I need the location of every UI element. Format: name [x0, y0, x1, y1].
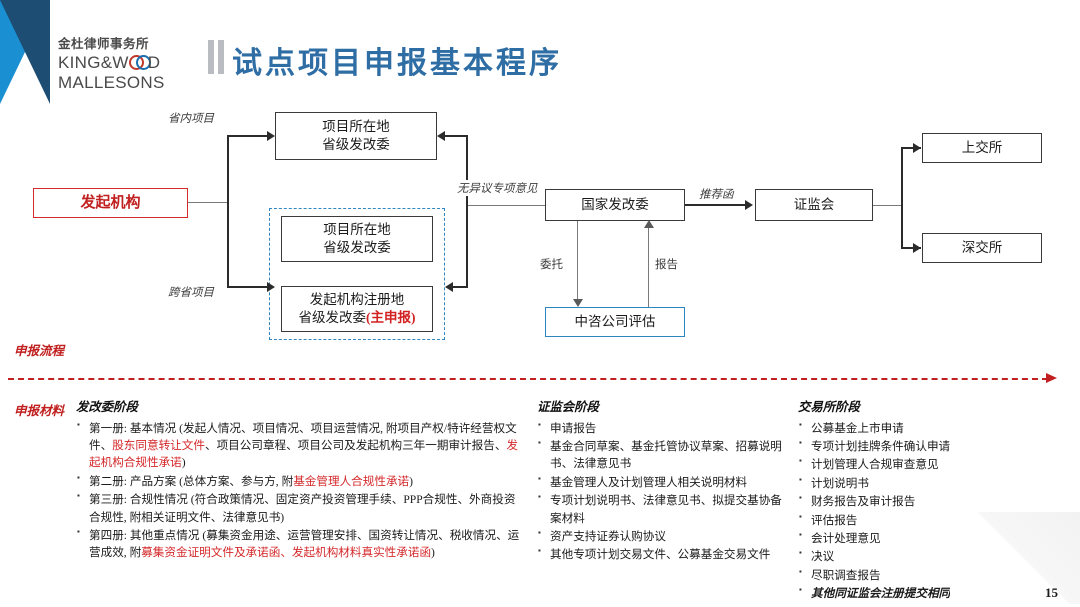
- node-project-province-top-line2: 省级发改委: [322, 136, 390, 154]
- label-no-objection: 无异议专项意见: [455, 180, 540, 196]
- label-cross-province: 跨省项目: [168, 284, 214, 300]
- logo-english-line2: MALLESONS: [58, 74, 178, 92]
- connector-noobjection-top-stub: [445, 135, 468, 137]
- list-item: 第一册: 基本情况 (发起人情况、项目情况、项目运营情况, 附项目产权/特许经营…: [76, 420, 526, 472]
- list-item: 公募基金上市申请: [798, 420, 1068, 437]
- materials-column-exchange-head: 交易所阶段: [798, 398, 1068, 417]
- connector-exchange-vertical: [901, 148, 903, 248]
- section-divider-arrow-icon: [1046, 373, 1057, 383]
- list-item: 第二册: 产品方案 (总体方案、参与方, 附基金管理人合规性承诺): [76, 473, 526, 490]
- connector-initiator-out: [188, 202, 228, 203]
- logo-english-tail: D: [148, 53, 161, 72]
- list-item: 计划说明书: [798, 475, 1068, 492]
- list-item: 第四册: 其他重点情况 (募集资金用途、运营管理安排、国资转让情况、税收情况、运…: [76, 527, 526, 562]
- list-item: 计划管理人合规审查意见: [798, 456, 1068, 473]
- node-csrc: 证监会: [755, 189, 873, 221]
- node-project-province-top: 项目所在地 省级发改委: [275, 112, 437, 160]
- list-item: 基金管理人及计划管理人相关说明材料: [537, 474, 787, 491]
- title-accent-bars: [208, 40, 224, 74]
- arrow-ndrc-to-csrc: [745, 200, 753, 210]
- arrow-to-szse: [913, 243, 921, 253]
- list-item: 基金合同草案、基金托管协议草案、招募说明书、法律意见书: [537, 438, 787, 473]
- list-item: 其他同证监会注册提交相同文件: [798, 585, 1068, 602]
- node-project-province-mid: 项目所在地 省级发改委: [281, 216, 433, 262]
- connector-to-group: [227, 286, 269, 288]
- label-entrust: 委托: [540, 256, 563, 272]
- firm-logo: 金杜律师事务所 KING&WD MALLESONS: [58, 38, 178, 91]
- slide: 金杜律师事务所 KING&WD MALLESONS 试点项目申报基本程序 发起机…: [0, 0, 1080, 607]
- materials-column-ndrc-list: 第一册: 基本情况 (发起人情况、项目情况、项目运营情况, 附项目产权/特许经营…: [76, 420, 526, 562]
- label-report: 报告: [655, 256, 678, 272]
- node-registration-province: 发起机构注册地 省级发改委(主申报): [281, 286, 433, 332]
- title-bar-2: [218, 40, 224, 74]
- connector-noobjection-vertical: [466, 135, 468, 288]
- list-item: 专项计划挂牌条件确认申请: [798, 438, 1068, 455]
- arrow-to-top-province: [267, 131, 275, 141]
- arrow-entrust: [573, 299, 583, 307]
- corner-decoration: [0, 0, 50, 104]
- node-szse-label: 深交所: [962, 239, 1003, 257]
- arrow-into-top-province: [437, 131, 445, 141]
- list-item: 资产支持证券认购协议: [537, 528, 787, 545]
- node-szse: 深交所: [922, 233, 1042, 263]
- node-project-province-mid-line2: 省级发改委: [323, 239, 391, 257]
- logo-english-kingwood: KING&W: [58, 53, 129, 72]
- node-csrc-label: 证监会: [794, 196, 835, 214]
- node-sse: 上交所: [922, 133, 1042, 163]
- highlighted-text: 基金管理人合规性承诺: [293, 475, 409, 488]
- list-item: 评估报告: [798, 512, 1068, 529]
- plain-text: 、项目公司章程、项目公司及发起机构三年一期审计报告、: [205, 439, 506, 452]
- page-number: 15: [1045, 585, 1058, 601]
- plain-text: 第三册: 合规性情况 (符合政策情况、固定资产投资管理手续、PPP合规性、外商投…: [89, 493, 515, 523]
- arrow-to-sse: [913, 143, 921, 153]
- node-registration-province-highlight: (主申报): [366, 310, 416, 325]
- connector-entrust: [577, 221, 578, 301]
- label-in-province: 省内项目: [168, 110, 214, 126]
- arrow-to-group: [267, 282, 275, 292]
- node-initiator: 发起机构: [33, 188, 188, 218]
- materials-column-exchange: 交易所阶段 公募基金上市申请 专项计划挂牌条件确认申请 计划管理人合规审查意见 …: [798, 398, 1068, 604]
- section-divider: [8, 378, 1048, 380]
- node-registration-province-line1: 发起机构注册地: [310, 291, 405, 309]
- node-registration-province-line2: 省级发改委(主申报): [299, 309, 416, 327]
- node-consulting-evaluation: 中咨公司评估: [545, 307, 685, 337]
- list-item: 财务报告及审计报告: [798, 493, 1068, 510]
- plain-text: 第二册: 产品方案 (总体方案、参与方, 附: [89, 475, 293, 488]
- list-item: 会计处理意见: [798, 530, 1068, 547]
- plain-text: ): [409, 475, 413, 488]
- materials-columns: 发改委阶段 第一册: 基本情况 (发起人情况、项目情况、项目运营情况, 附项目产…: [0, 398, 1080, 598]
- connector-noobjection-bottom-stub: [453, 286, 468, 288]
- node-project-province-mid-line1: 项目所在地: [323, 221, 391, 239]
- materials-column-exchange-list: 公募基金上市申请 专项计划挂牌条件确认申请 计划管理人合规审查意见 计划说明书 …: [798, 420, 1068, 603]
- corner-triangle-dark: [0, 0, 50, 104]
- node-sse-label: 上交所: [962, 139, 1003, 157]
- materials-column-csrc-list: 申请报告 基金合同草案、基金托管协议草案、招募说明书、法律意见书 基金管理人及计…: [537, 420, 787, 564]
- list-item: 专项计划说明书、法律意见书、拟提交基协备案材料: [537, 492, 787, 527]
- logo-chinese-name: 金杜律师事务所: [58, 38, 178, 52]
- connector-csrc-out: [873, 205, 903, 206]
- connector-ndrc-to-csrc: [685, 204, 747, 206]
- highlighted-text: 募集资金证明文件及承诺函、发起机构材料真实性承诺函: [141, 546, 431, 559]
- list-item: 尽职调查报告: [798, 567, 1068, 584]
- node-ndrc-label: 国家发改委: [581, 196, 649, 214]
- materials-column-ndrc: 发改委阶段 第一册: 基本情况 (发起人情况、项目情况、项目运营情况, 附项目产…: [76, 398, 526, 563]
- node-consulting-evaluation-label: 中咨公司评估: [575, 313, 656, 331]
- arrow-report: [644, 220, 654, 228]
- materials-column-csrc-head: 证监会阶段: [537, 398, 787, 417]
- node-initiator-label: 发起机构: [80, 193, 140, 213]
- list-item: 申请报告: [537, 420, 787, 437]
- connector-to-top-province: [227, 135, 269, 137]
- list-item: 其他专项计划交易文件、公募基金交易文件: [537, 546, 787, 563]
- node-project-province-top-line1: 项目所在地: [322, 118, 390, 136]
- logo-english-line1: KING&WD: [58, 54, 178, 72]
- materials-column-ndrc-head: 发改委阶段: [76, 398, 526, 417]
- list-item: 决议: [798, 548, 1068, 565]
- node-ndrc: 国家发改委: [545, 189, 685, 221]
- connector-noobjection-to-ndrc: [468, 205, 545, 206]
- list-item: 第三册: 合规性情况 (符合政策情况、固定资产投资管理手续、PPP合规性、外商投…: [76, 491, 526, 526]
- label-recommend-letter: 推荐函: [697, 186, 736, 202]
- connector-split-vertical: [227, 136, 229, 288]
- highlighted-text: 股东同意转让文件: [112, 439, 205, 452]
- materials-column-csrc: 证监会阶段 申请报告 基金合同草案、基金托管协议草案、招募说明书、法律意见书 基…: [537, 398, 787, 565]
- page-title: 试点项目申报基本程序: [232, 38, 562, 82]
- title-bar-1: [208, 40, 214, 74]
- plain-text: ): [431, 546, 435, 559]
- connector-report: [648, 227, 649, 307]
- section-label-process: 申报流程: [14, 340, 64, 359]
- plain-text: ): [182, 456, 186, 469]
- arrow-into-group: [445, 282, 453, 292]
- flowchart: 发起机构 项目所在地 省级发改委 项目所在地 省级发改委 发起机构注册地 省级发…: [0, 96, 1080, 351]
